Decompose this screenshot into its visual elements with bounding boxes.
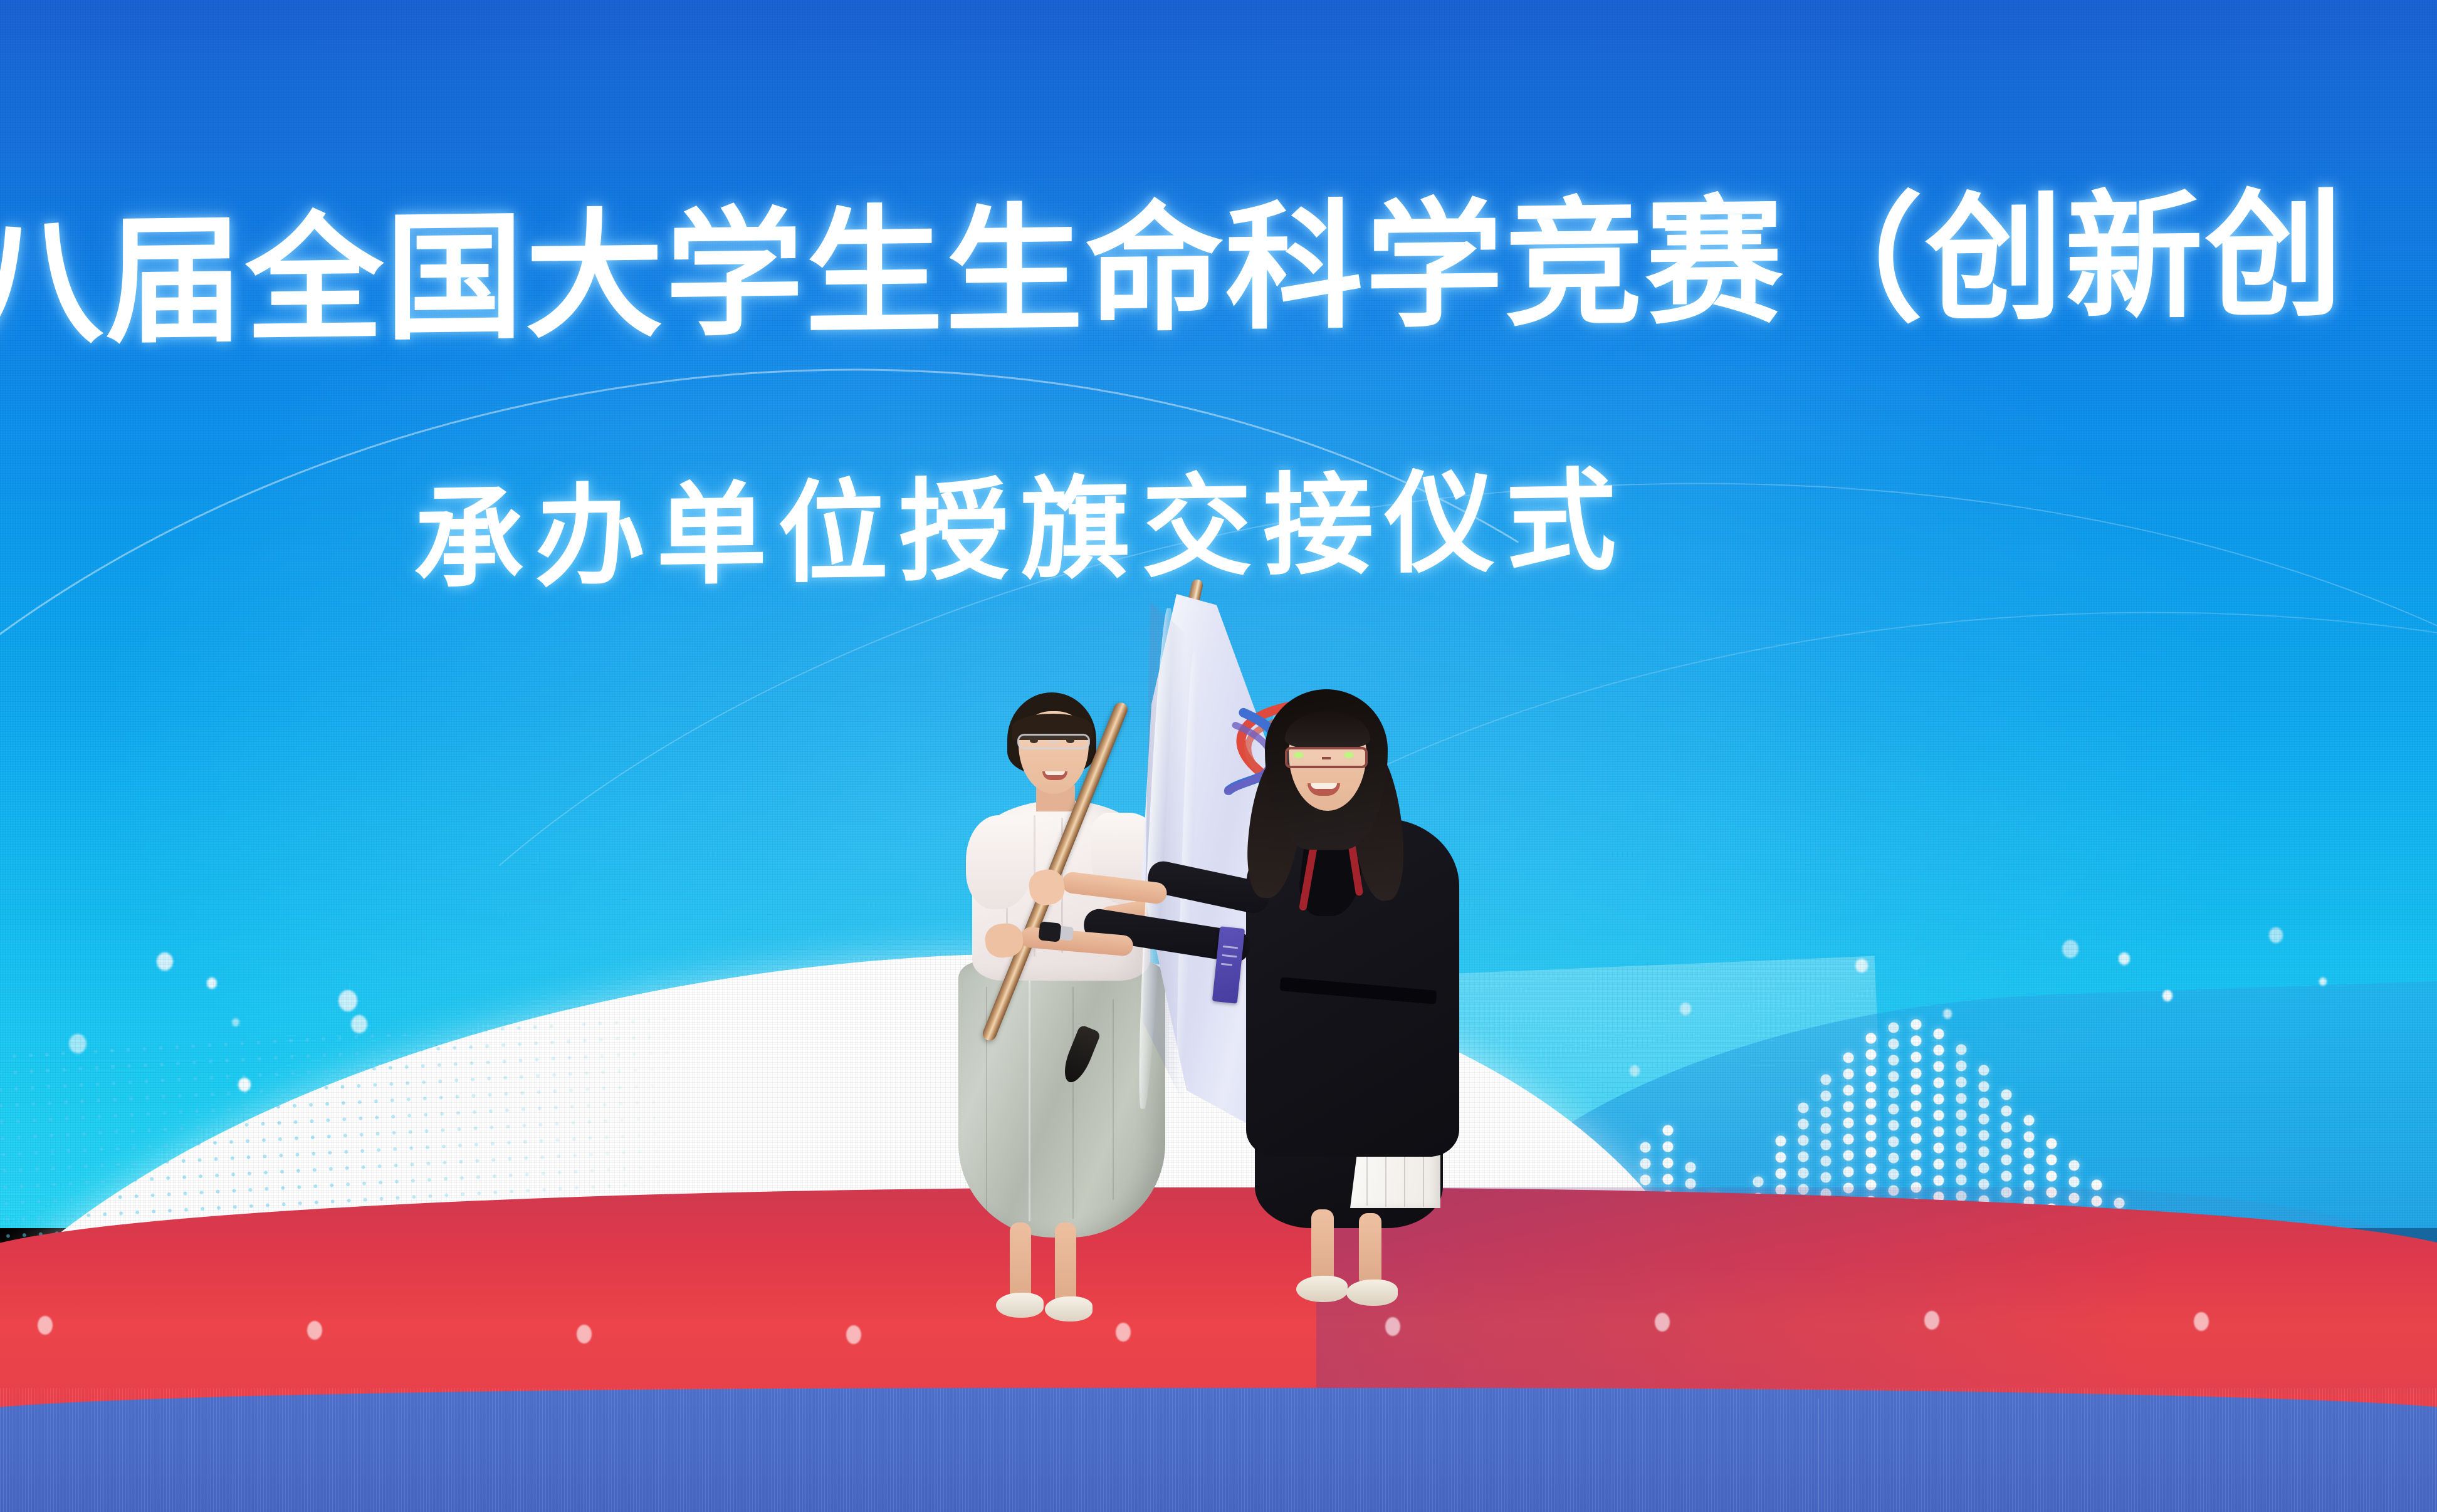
led-title-line-2: 承办单位授旗交接仪式 bbox=[414, 462, 1627, 600]
left-person-leg bbox=[1010, 1223, 1031, 1301]
floor-marker bbox=[846, 1325, 861, 1344]
floor-marker bbox=[38, 1316, 53, 1335]
glasses-glint bbox=[1344, 752, 1354, 758]
left-person-glasses bbox=[1017, 734, 1090, 749]
badge-text-line bbox=[1222, 954, 1237, 957]
stage-apron-band bbox=[0, 1388, 2437, 1512]
apron-texture bbox=[0, 1388, 2437, 1512]
led-title-line-1: 八届全国大学生生命科学竞赛（创新创 bbox=[0, 181, 2345, 358]
ceremony-photo: 八届全国大学生生命科学竞赛（创新创 承办单位授旗交接仪式 bbox=[0, 0, 2437, 1512]
person-right bbox=[1227, 689, 1578, 1335]
left-person-skirt-seam bbox=[1029, 966, 1030, 1221]
floor-marker bbox=[2194, 1312, 2209, 1331]
left-person-shoe bbox=[1045, 1296, 1093, 1322]
badge-text-line bbox=[1223, 946, 1238, 949]
apron-seam bbox=[1818, 1399, 1819, 1512]
badge-text-line bbox=[1221, 963, 1232, 966]
right-person-shoe bbox=[1296, 1276, 1348, 1302]
right-person-shoe bbox=[1346, 1280, 1398, 1306]
right-person-leg bbox=[1311, 1209, 1334, 1285]
floor-marker bbox=[577, 1325, 592, 1343]
left-person-shoe bbox=[996, 1293, 1044, 1318]
floor-marker bbox=[1924, 1311, 1939, 1330]
glasses-glint bbox=[1294, 752, 1304, 758]
left-person-leg bbox=[1055, 1223, 1076, 1306]
right-person-watch bbox=[1039, 921, 1062, 942]
right-person-leg bbox=[1359, 1213, 1381, 1287]
left-person-sleeve-left bbox=[966, 815, 1034, 909]
skirt-fold bbox=[1072, 987, 1074, 1219]
